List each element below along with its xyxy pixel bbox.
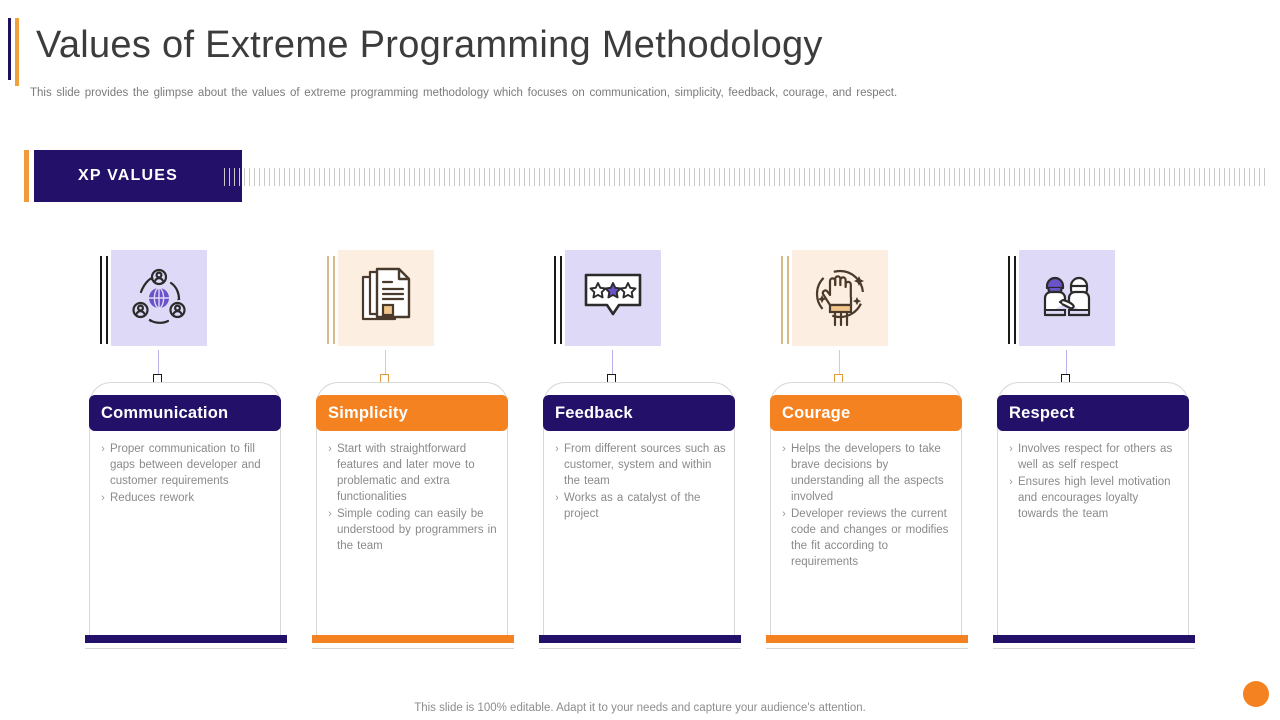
- icon-rail-lines: [781, 256, 791, 344]
- card-header-simplicity: Simplicity: [316, 395, 508, 431]
- section-banner-dashed-rule: [224, 168, 1266, 186]
- list-item: › Reduces rework: [96, 490, 272, 506]
- card-footer-bar: [766, 635, 968, 643]
- bullet-text: Developer reviews the current code and c…: [791, 506, 953, 570]
- global-collaboration-icon: [111, 250, 207, 346]
- card-title: Respect: [1009, 404, 1075, 423]
- list-item: › Helps the developers to take brave dec…: [777, 441, 953, 505]
- value-card-respect[interactable]: Respect › Involves respect for others as…: [997, 382, 1189, 642]
- card-footer-bar: [993, 635, 1195, 643]
- connector-feedback: [543, 350, 743, 382]
- raised-fist-icon: [792, 250, 888, 346]
- card-body-respect: › Involves respect for others as well as…: [998, 431, 1188, 535]
- card-header-courage: Courage: [770, 395, 962, 431]
- value-column-simplicity[interactable]: Simplicity › Start with straightforward …: [316, 250, 516, 642]
- bullet-chevron-icon: ›: [96, 490, 110, 506]
- card-footer-bar: [312, 635, 514, 643]
- card-title: Feedback: [555, 404, 633, 423]
- icon-zone-courage: [770, 250, 970, 350]
- section-banner-box: XP VALUES: [34, 150, 242, 202]
- slide-canvas: Values of Extreme Programming Methodolog…: [0, 0, 1280, 720]
- card-header-feedback: Feedback: [543, 395, 735, 431]
- icon-rail-lines: [100, 256, 110, 344]
- bullet-chevron-icon: ›: [96, 441, 110, 457]
- value-column-respect[interactable]: Respect › Involves respect for others as…: [997, 250, 1197, 642]
- bullet-chevron-icon: ›: [1004, 441, 1018, 457]
- card-footer-hairline: [312, 648, 514, 649]
- page-subtitle: This slide provides the glimpse about th…: [30, 87, 1030, 99]
- list-item: › Ensures high level motivation and enco…: [1004, 474, 1180, 522]
- section-banner-label: XP VALUES: [34, 167, 178, 185]
- connector-line: [385, 350, 386, 377]
- card-footer-bar: [539, 635, 741, 643]
- icon-rail-lines: [1008, 256, 1018, 344]
- icon-zone-communication: [89, 250, 289, 350]
- review-stars-bubble-icon: [565, 250, 661, 346]
- values-columns: Communication › Proper communication to …: [0, 250, 1280, 660]
- page-title: Values of Extreme Programming Methodolog…: [36, 24, 823, 67]
- bullet-text: Reduces rework: [110, 490, 272, 506]
- card-body-courage: › Helps the developers to take brave dec…: [771, 431, 961, 583]
- list-item: › Simple coding can easily be understood…: [323, 506, 499, 554]
- section-banner-accent: [24, 150, 29, 202]
- card-title: Communication: [101, 404, 228, 423]
- card-body-feedback: › From different sources such as custome…: [544, 431, 734, 535]
- card-title: Simplicity: [328, 404, 408, 423]
- value-column-courage[interactable]: Courage › Helps the developers to take b…: [770, 250, 970, 642]
- list-item: › Start with straightforward features an…: [323, 441, 499, 505]
- title-accent-bar-orange: [15, 18, 19, 86]
- bullet-chevron-icon: ›: [323, 441, 337, 457]
- icon-zone-feedback: [543, 250, 743, 350]
- bullet-chevron-icon: ›: [777, 441, 791, 457]
- list-item: › Works as a catalyst of the project: [550, 490, 726, 522]
- bullet-text: Simple coding can easily be understood b…: [337, 506, 499, 554]
- bullet-chevron-icon: ›: [777, 506, 791, 522]
- bullet-chevron-icon: ›: [323, 506, 337, 522]
- card-footer-hairline: [766, 648, 968, 649]
- connector-courage: [770, 350, 970, 382]
- value-column-communication[interactable]: Communication › Proper communication to …: [89, 250, 289, 642]
- bullet-chevron-icon: ›: [550, 441, 564, 457]
- card-footer-hairline: [993, 648, 1195, 649]
- bullet-text: Works as a catalyst of the project: [564, 490, 726, 522]
- bullet-text: Involves respect for others as well as s…: [1018, 441, 1180, 473]
- bullet-text: Ensures high level motivation and encour…: [1018, 474, 1180, 522]
- icon-rail-lines: [327, 256, 337, 344]
- card-footer-bar: [85, 635, 287, 643]
- card-title: Courage: [782, 404, 850, 423]
- bullet-chevron-icon: ›: [550, 490, 564, 506]
- bullet-text: Start with straightforward features and …: [337, 441, 499, 505]
- connector-simplicity: [316, 350, 516, 382]
- value-card-communication[interactable]: Communication › Proper communication to …: [89, 382, 281, 642]
- icon-rail-lines: [554, 256, 564, 344]
- icon-zone-respect: [997, 250, 1197, 350]
- value-card-feedback[interactable]: Feedback › From different sources such a…: [543, 382, 735, 642]
- bullet-text: Proper communication to fill gaps betwee…: [110, 441, 272, 489]
- connector-line: [1066, 350, 1067, 377]
- connector-line: [839, 350, 840, 377]
- bullet-chevron-icon: ›: [1004, 474, 1018, 490]
- list-item: › Proper communication to fill gaps betw…: [96, 441, 272, 489]
- corner-accent-dot: [1243, 681, 1269, 707]
- handshake-icon: [1019, 250, 1115, 346]
- title-accent-bar-navy: [8, 18, 11, 80]
- card-footer-hairline: [539, 648, 741, 649]
- connector-respect: [997, 350, 1197, 382]
- list-item: › Developer reviews the current code and…: [777, 506, 953, 570]
- connector-line: [612, 350, 613, 377]
- value-card-simplicity[interactable]: Simplicity › Start with straightforward …: [316, 382, 508, 642]
- icon-zone-simplicity: [316, 250, 516, 350]
- footer-note: This slide is 100% editable. Adapt it to…: [0, 702, 1280, 714]
- list-item: › Involves respect for others as well as…: [1004, 441, 1180, 473]
- list-item: › From different sources such as custome…: [550, 441, 726, 489]
- card-footer-hairline: [85, 648, 287, 649]
- card-header-respect: Respect: [997, 395, 1189, 431]
- documents-icon: [338, 250, 434, 346]
- bullet-text: Helps the developers to take brave decis…: [791, 441, 953, 505]
- connector-line: [158, 350, 159, 377]
- value-card-courage[interactable]: Courage › Helps the developers to take b…: [770, 382, 962, 642]
- connector-communication: [89, 350, 289, 382]
- card-body-simplicity: › Start with straightforward features an…: [317, 431, 507, 567]
- bullet-text: From different sources such as customer,…: [564, 441, 726, 489]
- value-column-feedback[interactable]: Feedback › From different sources such a…: [543, 250, 743, 642]
- card-header-communication: Communication: [89, 395, 281, 431]
- card-body-communication: › Proper communication to fill gaps betw…: [90, 431, 280, 519]
